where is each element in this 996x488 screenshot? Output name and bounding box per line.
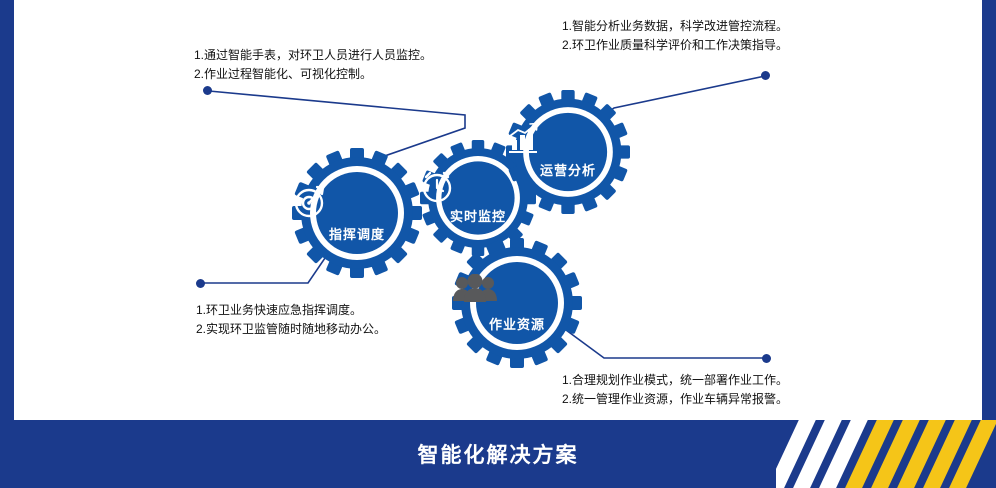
callout-bottom-right-line-2: 2.统一管理作业资源，作业车辆异常报警。 xyxy=(562,390,788,409)
callout-bottom-left-line-1: 1.环卫业务快速应急指挥调度。 xyxy=(196,301,386,320)
node-label-work-resources: 作业资源 xyxy=(452,314,582,333)
people-icon xyxy=(452,274,582,304)
callout-top-right-line-2: 2.环卫作业质量科学评价和工作决策指导。 xyxy=(562,36,788,55)
connector-dot-bottom-left xyxy=(196,279,205,288)
node-operation-analysis[interactable]: 运营分析 xyxy=(506,90,630,214)
bar-chart-icon xyxy=(506,122,630,154)
callout-top-right-line-1: 1.智能分析业务数据，科学改进管控流程。 xyxy=(562,17,788,36)
node-command-dispatch[interactable]: 指挥调度 xyxy=(292,148,422,278)
footer-bar: 智能化解决方案 xyxy=(0,420,996,488)
callout-bottom-right-line-1: 1.合理规划作业模式，统一部署作业工作。 xyxy=(562,371,788,390)
node-label-operation-analysis: 运营分析 xyxy=(506,160,630,179)
target-icon xyxy=(292,184,422,220)
callout-bottom-right: 1.合理规划作业模式，统一部署作业工作。 2.统一管理作业资源，作业车辆异常报警… xyxy=(562,371,788,409)
node-work-resources[interactable]: 作业资源 xyxy=(452,238,582,368)
connector-dot-top-left xyxy=(203,86,212,95)
callout-bottom-left-line-2: 2.实现环卫监管随时随地移动办公。 xyxy=(196,320,386,339)
connector-dot-bottom-right xyxy=(762,354,771,363)
footer-stripes xyxy=(776,420,996,488)
connector-dot-top-right xyxy=(761,71,770,80)
callout-top-right: 1.智能分析业务数据，科学改进管控流程。 2.环卫作业质量科学评价和工作决策指导… xyxy=(562,17,788,55)
callout-top-left-line-1: 1.通过智能手表，对环卫人员进行人员监控。 xyxy=(194,46,432,65)
node-label-command-dispatch: 指挥调度 xyxy=(292,224,422,243)
diagram-stage: 指挥调度 xyxy=(0,0,996,488)
callout-top-left: 1.通过智能手表，对环卫人员进行人员监控。 2.作业过程智能化、可视化控制。 xyxy=(194,46,432,84)
callout-top-left-line-2: 2.作业过程智能化、可视化控制。 xyxy=(194,65,432,84)
callout-bottom-left: 1.环卫业务快速应急指挥调度。 2.实现环卫监管随时随地移动办公。 xyxy=(196,301,386,339)
